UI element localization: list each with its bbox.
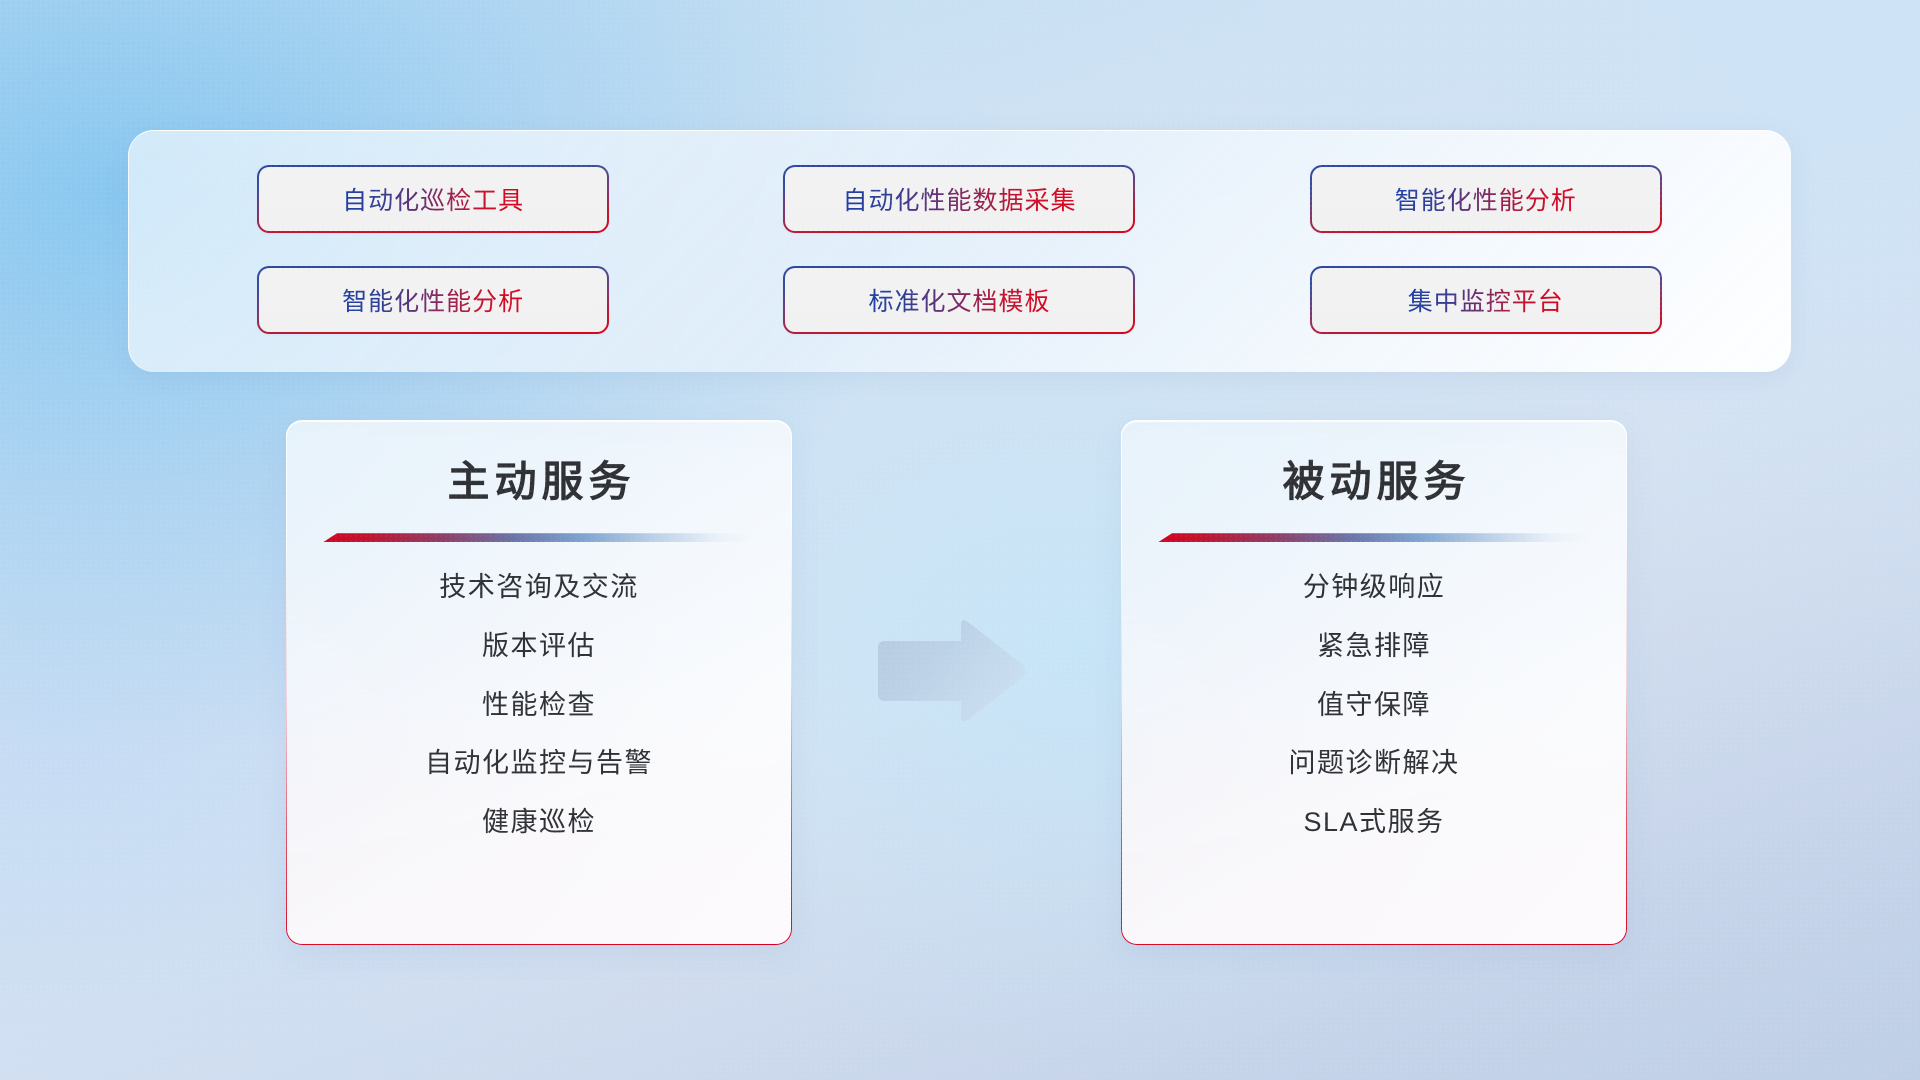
list-item: 分钟级响应 [1303,571,1446,605]
list-item: 健康巡检 [482,806,596,840]
slide-canvas: 自动化巡检工具 自动化性能数据采集 智能化性能分析 智能化性能分析 标准化文档模… [0,0,1920,1080]
arrow-right-icon [872,616,1028,726]
card-title: 主动服务 [442,459,635,505]
list-item: 值守保障 [1317,689,1431,723]
capabilities-panel: 自动化巡检工具 自动化性能数据采集 智能化性能分析 智能化性能分析 标准化文档模… [128,130,1791,372]
capability-pill-label: 自动化巡检工具 [342,181,524,217]
list-item: 性能检查 [482,689,596,723]
capability-pill-6[interactable]: 集中监控平台 [1310,266,1662,334]
capability-pill-5[interactable]: 标准化文档模板 [783,266,1135,334]
capability-pill-4[interactable]: 智能化性能分析 [257,266,609,334]
capability-pill-label: 智能化性能分析 [1395,181,1577,217]
service-item-list: 技术咨询及交流 版本评估 性能检查 自动化监控与告警 健康巡检 [313,571,765,840]
card-divider [323,533,755,543]
capability-pill-label: 集中监控平台 [1408,282,1564,318]
flow-arrow [872,616,1028,726]
capability-pill-2[interactable]: 自动化性能数据采集 [783,165,1135,233]
capability-pill-label: 标准化文档模板 [868,282,1050,318]
list-item: 紧急排障 [1317,630,1431,664]
card-divider-bar [323,533,755,542]
card-divider [1158,533,1590,543]
capability-pill-label: 智能化性能分析 [342,282,524,318]
list-item: 自动化监控与告警 [425,747,653,781]
list-item: SLA式服务 [1303,806,1444,840]
list-item: 问题诊断解决 [1289,747,1460,781]
card-divider-bar [1158,533,1590,542]
capability-pill-1[interactable]: 自动化巡检工具 [257,165,609,233]
service-card-reactive: 被动服务 分钟级响应 紧急排障 值守保障 问题诊断解决 SLA式服务 [1121,420,1627,945]
list-item: 技术咨询及交流 [439,571,639,605]
service-item-list: 分钟级响应 紧急排障 值守保障 问题诊断解决 SLA式服务 [1148,571,1600,840]
service-card-proactive: 主动服务 技术咨询及交流 版本评估 性能检查 自动化监控与告警 健康巡检 [286,420,792,945]
list-item: 版本评估 [482,630,596,664]
capability-pill-label: 自动化性能数据采集 [842,181,1076,217]
capability-pill-3[interactable]: 智能化性能分析 [1310,165,1662,233]
card-title: 被动服务 [1277,459,1470,505]
